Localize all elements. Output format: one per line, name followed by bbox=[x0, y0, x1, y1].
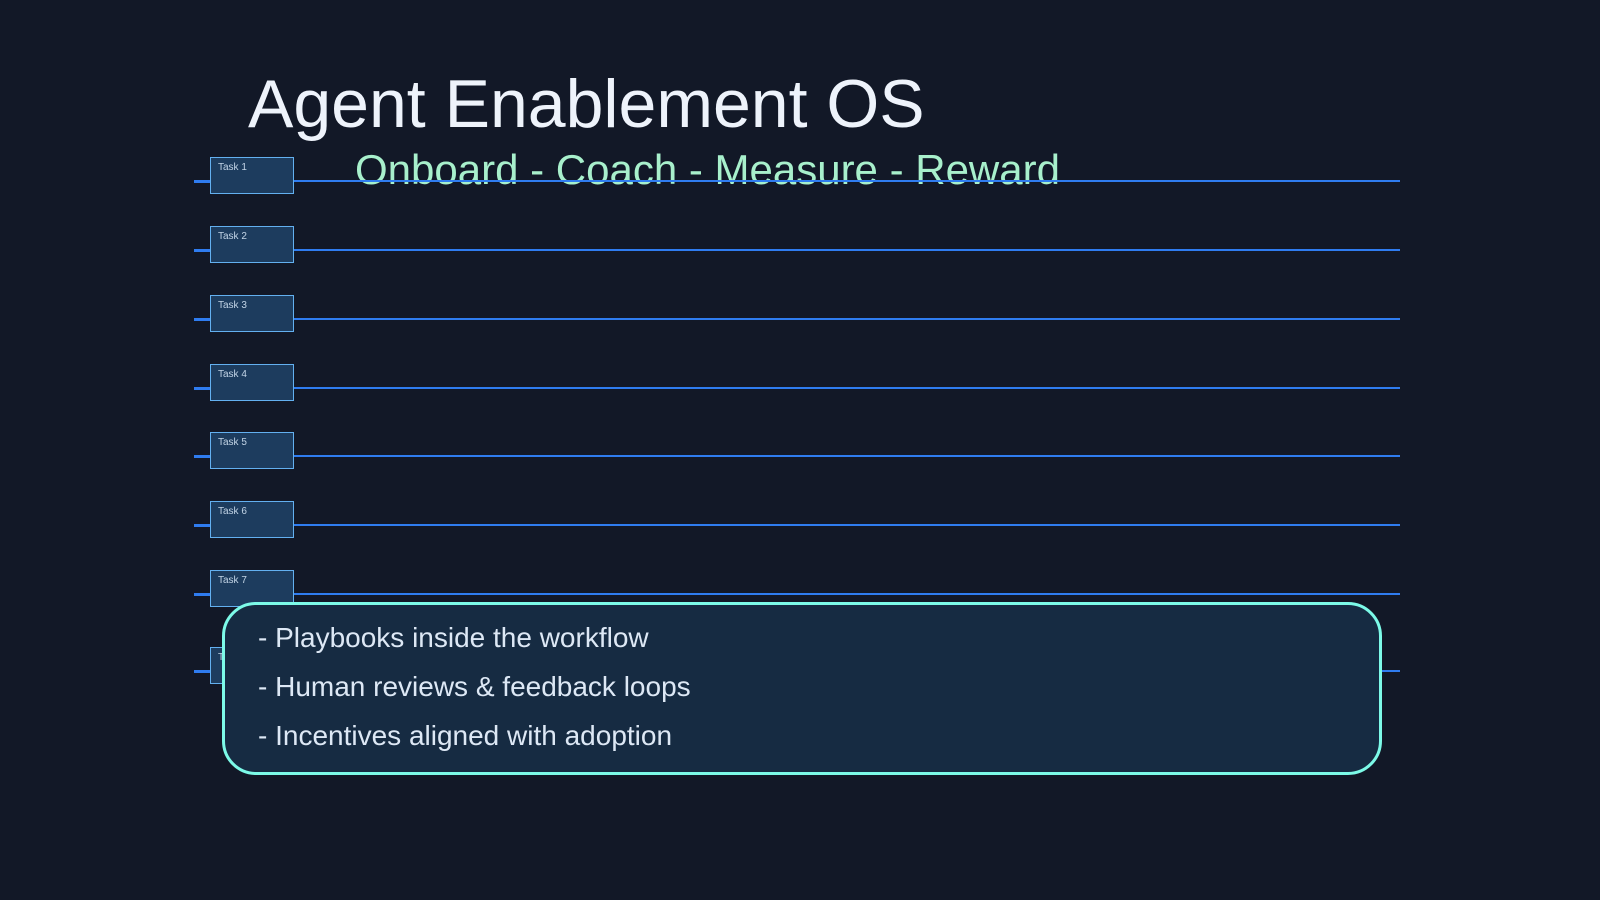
task-box[interactable]: Task 3 bbox=[210, 295, 294, 332]
row-timeline-line bbox=[294, 524, 1400, 526]
callout-item: - Playbooks inside the workflow bbox=[258, 613, 1359, 662]
callout-list: - Playbooks inside the workflow- Human r… bbox=[258, 613, 1359, 760]
task-label: Task 6 bbox=[218, 506, 247, 517]
task-label: Task 5 bbox=[218, 437, 247, 448]
slide-canvas: Agent Enablement OS Onboard - Coach - Me… bbox=[0, 0, 1600, 900]
task-box[interactable]: Task 5 bbox=[210, 432, 294, 469]
task-box[interactable]: Task 6 bbox=[210, 501, 294, 538]
callout-item: - Incentives aligned with adoption bbox=[258, 711, 1359, 760]
row-timeline-line bbox=[294, 318, 1400, 320]
callout-panel: - Playbooks inside the workflow- Human r… bbox=[222, 602, 1382, 775]
task-box[interactable]: Task 1 bbox=[210, 157, 294, 194]
task-label: Task 4 bbox=[218, 369, 247, 380]
task-label: Task 1 bbox=[218, 162, 247, 173]
callout-item: - Human reviews & feedback loops bbox=[258, 662, 1359, 711]
task-box[interactable]: Task 4 bbox=[210, 364, 294, 401]
task-label: Task 7 bbox=[218, 575, 247, 586]
task-label: Task 3 bbox=[218, 300, 247, 311]
row-timeline-line bbox=[294, 180, 1400, 182]
row-timeline-line bbox=[294, 387, 1400, 389]
row-timeline-line bbox=[294, 455, 1400, 457]
task-box[interactable]: Task 2 bbox=[210, 226, 294, 263]
row-timeline-line bbox=[294, 249, 1400, 251]
row-timeline-line bbox=[294, 593, 1400, 595]
task-label: Task 2 bbox=[218, 231, 247, 242]
